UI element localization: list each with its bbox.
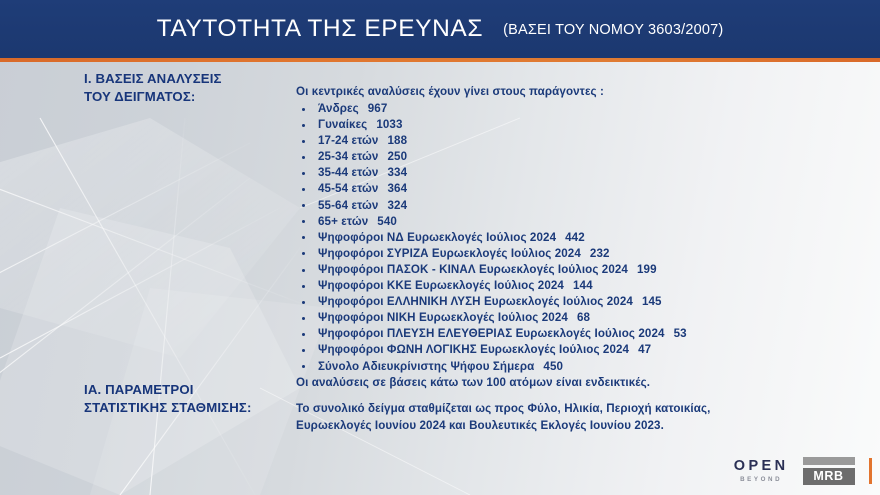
bullet-dot-icon — [302, 188, 305, 191]
content-lead-text: Οι κεντρικές αναλύσεις έχουν γίνει στους… — [296, 84, 866, 100]
list-item: Ψηφοφόροι ΦΩΝΗ ΛΟΓΙΚΗΣ Ευρωεκλογές Ιούλι… — [296, 342, 866, 358]
bullet-dot-icon — [302, 156, 305, 159]
mrb-logo: MRB — [803, 457, 855, 485]
bullet-dot-icon — [302, 108, 305, 111]
section-label-bases: Ι. ΒΑΣΕΙΣ ΑΝΑΛΥΣΕΙΣ ΤΟΥ ΔΕΙΓΜΑΤΟΣ: — [84, 70, 222, 106]
list-item-label: Ψηφοφόροι ΚΚΕ Ευρωεκλογές Ιούλιος 2024 — [318, 279, 564, 292]
bullet-dot-icon — [302, 204, 305, 207]
mrb-logo-bar — [803, 457, 855, 465]
list-item-value: 250 — [378, 150, 407, 163]
list-item-label: 35-44 ετών — [318, 166, 378, 179]
section-label-bases-line1: Ι. ΒΑΣΕΙΣ ΑΝΑΛΥΣΕΙΣ — [84, 70, 222, 88]
orange-accent-tick — [869, 458, 873, 484]
bullet-dot-icon — [302, 333, 305, 336]
list-item-value: 53 — [665, 327, 687, 340]
page-subtitle: (ΒΑΣΕΙ ΤΟΥ ΝΟΜΟΥ 3603/2007) — [503, 22, 723, 38]
section-label-bases-line2: ΤΟΥ ΔΕΙΓΜΑΤΟΣ: — [84, 88, 222, 106]
bullet-dot-icon — [302, 317, 305, 320]
list-item-value: 442 — [556, 231, 585, 244]
section-label-params-line1: ΙΑ. ΠΑΡΑΜΕΤΡΟΙ — [84, 381, 252, 399]
list-item-value: 188 — [378, 134, 407, 147]
list-item: Σύνολο Αδιευκρίνιστης Ψήφου Σήμερα450 — [296, 359, 866, 375]
list-item-label: Ψηφοφόροι ΣΥΡΙΖΑ Ευρωεκλογές Ιούλιος 202… — [318, 247, 581, 260]
list-item: 65+ ετών540 — [296, 214, 866, 230]
list-item-label: 55-64 ετών — [318, 199, 378, 212]
list-item-value: 68 — [568, 311, 590, 324]
list-item-value: 232 — [581, 247, 610, 260]
list-item-label: Ψηφοφόροι ΝΙΚΗ Ευρωεκλογές Ιούλιος 2024 — [318, 311, 568, 324]
bullet-dot-icon — [302, 252, 305, 255]
bullet-dot-icon — [302, 172, 305, 175]
page-title: ΤΑΥΤΟΤΗΤΑ ΤΗΣ ΕΡΕΥΝΑΣ — [157, 15, 484, 43]
list-item: Ψηφοφόροι ΕΛΛΗΝΙΚΗ ΛΥΣΗ Ευρωεκλογές Ιούλ… — [296, 294, 866, 310]
list-item: Άνδρες967 — [296, 101, 866, 117]
list-item: Ψηφοφόροι ΠΛΕΥΣΗ ΕΛΕΥΘΕΡΙΑΣ Ευρωεκλογές … — [296, 326, 866, 342]
list-item-value: 145 — [633, 295, 662, 308]
list-item-label: Ψηφοφόροι ΦΩΝΗ ΛΟΓΙΚΗΣ Ευρωεκλογές Ιούλι… — [318, 343, 629, 356]
section-label-params-line2: ΣΤΑΤΙΣΤΙΚΗΣ ΣΤΑΘΜΙΣΗΣ: — [84, 399, 252, 417]
list-item-label: Ψηφοφόροι ΕΛΛΗΝΙΚΗ ΛΥΣΗ Ευρωεκλογές Ιούλ… — [318, 295, 633, 308]
list-item: Γυναίκες1033 — [296, 117, 866, 133]
weighting-content: Το συνολικό δείγμα σταθμίζεται ως προς Φ… — [296, 400, 866, 434]
list-item-label: 65+ ετών — [318, 215, 368, 228]
bases-bullet-list: Άνδρες967Γυναίκες103317-24 ετών18825-34 … — [296, 101, 866, 375]
list-item: 25-34 ετών250 — [296, 149, 866, 165]
list-item-value: 540 — [368, 215, 397, 228]
list-item-value: 199 — [628, 263, 657, 276]
bullet-dot-icon — [302, 124, 305, 127]
open-logo-wordmark: OPEN — [734, 459, 789, 474]
list-item: Ψηφοφόροι ΚΚΕ Ευρωεκλογές Ιούλιος 202414… — [296, 278, 866, 294]
bullet-dot-icon — [302, 349, 305, 352]
list-item-value: 324 — [378, 199, 407, 212]
bases-content: Οι κεντρικές αναλύσεις έχουν γίνει στους… — [296, 84, 866, 391]
list-item: 55-64 ετών324 — [296, 198, 866, 214]
list-item-value: 334 — [378, 166, 407, 179]
mrb-logo-wordmark: MRB — [803, 468, 855, 485]
list-item: Ψηφοφόροι ΝΙΚΗ Ευρωεκλογές Ιούλιος 20246… — [296, 310, 866, 326]
list-item-value: 1033 — [367, 118, 402, 131]
footer-logo-group: OPEN BEYOND MRB — [734, 453, 872, 489]
list-item-value: 47 — [629, 343, 651, 356]
bullet-dot-icon — [302, 285, 305, 288]
list-item-label: Ψηφοφόροι ΝΔ Ευρωεκλογές Ιούλιος 2024 — [318, 231, 556, 244]
bullet-dot-icon — [302, 236, 305, 239]
bullet-dot-icon — [302, 365, 305, 368]
bullet-dot-icon — [302, 140, 305, 143]
list-item: 45-54 ετών364 — [296, 181, 866, 197]
list-item-value: 364 — [378, 182, 407, 195]
list-item-label: Ψηφοφόροι ΠΑΣΟΚ - ΚΙΝΑΛ Ευρωεκλογές Ιούλ… — [318, 263, 628, 276]
bullet-dot-icon — [302, 220, 305, 223]
list-item-label: Γυναίκες — [318, 118, 367, 131]
list-item: Ψηφοφόροι ΣΥΡΙΖΑ Ευρωεκλογές Ιούλιος 202… — [296, 246, 866, 262]
list-item-label: 45-54 ετών — [318, 182, 378, 195]
header-title-group: ΤΑΥΤΟΤΗΤΑ ΤΗΣ ΕΡΕΥΝΑΣ (ΒΑΣΕΙ ΤΟΥ ΝΟΜΟΥ 3… — [0, 0, 880, 58]
weighting-line-1: Το συνολικό δείγμα σταθμίζεται ως προς Φ… — [296, 400, 866, 417]
open-beyond-logo: OPEN BEYOND — [734, 459, 789, 483]
list-item-label: 17-24 ετών — [318, 134, 378, 147]
bases-note: Οι αναλύσεις σε βάσεις κάτω των 100 ατόμ… — [296, 375, 866, 391]
weighting-line-2: Ευρωεκλογές Ιουνίου 2024 και Βουλευτικές… — [296, 417, 866, 434]
list-item: 17-24 ετών188 — [296, 133, 866, 149]
list-item: 35-44 ετών334 — [296, 165, 866, 181]
header-accent-line — [0, 58, 880, 62]
section-label-params: ΙΑ. ΠΑΡΑΜΕΤΡΟΙ ΣΤΑΤΙΣΤΙΚΗΣ ΣΤΑΘΜΙΣΗΣ: — [84, 381, 252, 417]
list-item-value: 967 — [359, 102, 388, 115]
list-item: Ψηφοφόροι ΝΔ Ευρωεκλογές Ιούλιος 2024442 — [296, 230, 866, 246]
beyond-logo-wordmark: BEYOND — [740, 477, 782, 483]
list-item-label: Άνδρες — [318, 102, 359, 115]
list-item-label: 25-34 ετών — [318, 150, 378, 163]
list-item-value: 144 — [564, 279, 593, 292]
list-item-label: Σύνολο Αδιευκρίνιστης Ψήφου Σήμερα — [318, 360, 534, 373]
list-item: Ψηφοφόροι ΠΑΣΟΚ - ΚΙΝΑΛ Ευρωεκλογές Ιούλ… — [296, 262, 866, 278]
slide-canvas: ΤΑΥΤΟΤΗΤΑ ΤΗΣ ΕΡΕΥΝΑΣ (ΒΑΣΕΙ ΤΟΥ ΝΟΜΟΥ 3… — [0, 0, 880, 495]
bullet-dot-icon — [302, 301, 305, 304]
list-item-label: Ψηφοφόροι ΠΛΕΥΣΗ ΕΛΕΥΘΕΡΙΑΣ Ευρωεκλογές … — [318, 327, 665, 340]
bullet-dot-icon — [302, 269, 305, 272]
list-item-value: 450 — [534, 360, 563, 373]
